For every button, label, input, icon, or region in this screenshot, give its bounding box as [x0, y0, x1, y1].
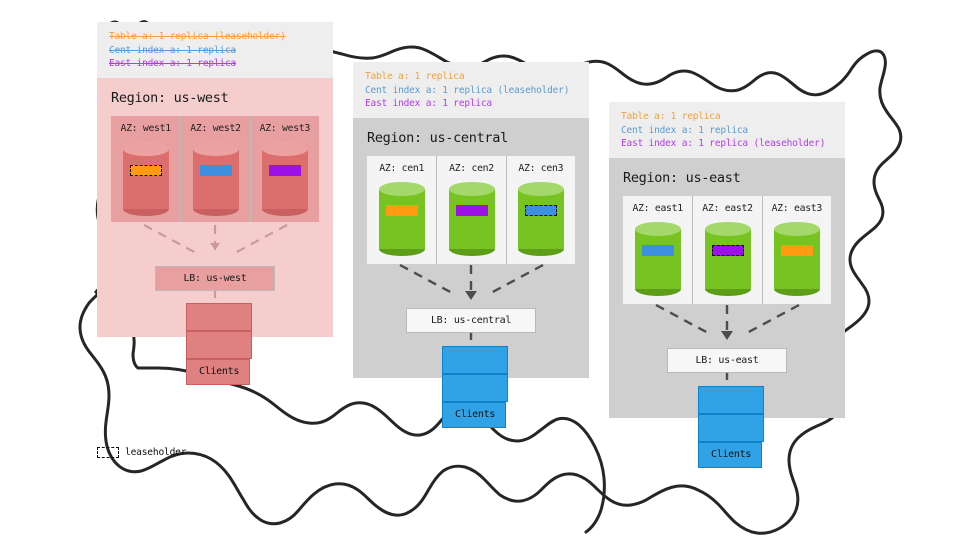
region-panel-us-central: Table a: 1 replica Cent index a: 1 repli…	[353, 62, 589, 372]
load-balancer-us-east[interactable]: LB: us-east	[667, 348, 787, 373]
region-replica-legend-us-central: Table a: 1 replica Cent index a: 1 repli…	[353, 62, 589, 118]
region-body-us-west: Region: us-west AZ: west1	[97, 78, 333, 337]
range-replica-east-index-a[interactable]	[712, 245, 744, 256]
cylinder-top	[123, 142, 169, 156]
az-strip-us-west: AZ: west1 AZ: west2	[111, 116, 319, 222]
cylinder-body	[379, 189, 425, 249]
az-label-east1: AZ: east1	[623, 203, 692, 214]
az-box-west3[interactable]: AZ: west3	[250, 116, 319, 222]
replica-row-cent-index: Cent index a: 1 replica	[621, 124, 835, 138]
clients-shadow-1	[442, 374, 508, 402]
range-replica-east-index-a[interactable]	[269, 165, 301, 176]
diagram-canvas: Table a: 1 replica (leaseholder) Cent in…	[0, 0, 960, 540]
az-label-west1: AZ: west1	[111, 123, 180, 134]
node-cylinder-cen2[interactable]	[449, 182, 495, 256]
az-strip-us-central: AZ: cen1 AZ: cen2	[367, 156, 575, 264]
cylinder-body	[123, 149, 169, 209]
replica-row-east-index: East index a: 1 replica	[365, 97, 579, 111]
region-replica-legend-us-east: Table a: 1 replica Cent index a: 1 repli…	[609, 102, 845, 158]
az-box-cen2[interactable]: AZ: cen2	[436, 156, 505, 264]
cylinder-top	[449, 182, 495, 196]
clients-box-us-central[interactable]: Clients	[442, 402, 506, 428]
replica-row-cent-index: Cent index a: 1 replica	[109, 44, 323, 58]
replica-row-cent-index: Cent index a: 1 replica (leaseholder)	[365, 84, 579, 98]
clients-box-us-west[interactable]: Clients	[186, 359, 250, 385]
region-panel-us-west: Table a: 1 replica (leaseholder) Cent in…	[97, 22, 333, 331]
az-label-cen2: AZ: cen2	[437, 163, 505, 174]
range-replica-cent-index-a[interactable]	[200, 165, 232, 176]
node-cylinder-west1[interactable]	[123, 142, 169, 216]
region-replica-legend-us-west: Table a: 1 replica (leaseholder) Cent in…	[97, 22, 333, 78]
node-cylinder-east1[interactable]	[635, 222, 681, 296]
cylinder-body	[449, 189, 495, 249]
range-replica-table-a[interactable]	[386, 205, 418, 216]
az-label-cen1: AZ: cen1	[367, 163, 436, 174]
node-cylinder-east3[interactable]	[774, 222, 820, 296]
az-label-cen3: AZ: cen3	[507, 163, 575, 174]
replica-row-east-index: East index a: 1 replica (leaseholder)	[621, 137, 835, 151]
replica-row-east-index: East index a: 1 replica	[109, 57, 323, 71]
az-label-east2: AZ: east2	[693, 203, 761, 214]
node-cylinder-west3[interactable]	[262, 142, 308, 216]
region-title-us-central: Region: us-central	[353, 118, 589, 156]
replica-row-table: Table a: 1 replica (leaseholder)	[109, 30, 323, 44]
load-balancer-us-central[interactable]: LB: us-central	[406, 308, 536, 333]
clients-shadow-1	[186, 331, 252, 359]
az-strip-us-east: AZ: east1 AZ: east2	[623, 196, 831, 304]
az-label-west3: AZ: west3	[251, 123, 319, 134]
cylinder-body	[635, 229, 681, 289]
az-label-east3: AZ: east3	[763, 203, 831, 214]
clients-shadow-2	[186, 303, 252, 331]
cylinder-top	[518, 182, 564, 196]
clients-box-us-east[interactable]: Clients	[698, 442, 762, 468]
clients-shadow-1	[698, 414, 764, 442]
node-cylinder-cen1[interactable]	[379, 182, 425, 256]
az-box-cen1[interactable]: AZ: cen1	[367, 156, 436, 264]
region-body-us-east: Region: us-east AZ: east1	[609, 158, 845, 418]
clients-shadow-2	[698, 386, 764, 414]
clients-shadow-2	[442, 346, 508, 374]
az-label-west2: AZ: west2	[181, 123, 249, 134]
clients-stack-us-central[interactable]: Clients	[442, 346, 508, 428]
load-balancer-us-west[interactable]: LB: us-west	[155, 266, 275, 291]
region-title-us-east: Region: us-east	[609, 158, 845, 196]
cylinder-top	[705, 222, 751, 236]
cylinder-top	[262, 142, 308, 156]
clients-stack-us-west[interactable]: Clients	[186, 303, 252, 385]
cylinder-top	[774, 222, 820, 236]
az-box-west2[interactable]: AZ: west2	[180, 116, 249, 222]
replica-row-table: Table a: 1 replica	[365, 70, 579, 84]
cylinder-top	[635, 222, 681, 236]
dashed-box-swatch-icon	[97, 447, 119, 458]
az-box-cen3[interactable]: AZ: cen3	[506, 156, 575, 264]
region-title-us-west: Region: us-west	[97, 78, 333, 116]
range-replica-table-a[interactable]	[130, 165, 162, 176]
cylinder-body	[705, 229, 751, 289]
node-cylinder-east2[interactable]	[705, 222, 751, 296]
az-box-west1[interactable]: AZ: west1	[111, 116, 180, 222]
node-cylinder-west2[interactable]	[193, 142, 239, 216]
leaseholder-legend-label: leaseholder	[125, 447, 186, 458]
node-cylinder-cen3[interactable]	[518, 182, 564, 256]
cylinder-body	[193, 149, 239, 209]
region-body-us-central: Region: us-central AZ: cen1	[353, 118, 589, 378]
leaseholder-legend: leaseholder	[97, 447, 186, 458]
az-box-east2[interactable]: AZ: east2	[692, 196, 761, 304]
cylinder-body	[518, 189, 564, 249]
range-replica-cent-index-a[interactable]	[525, 205, 557, 216]
cylinder-top	[379, 182, 425, 196]
range-replica-cent-index-a[interactable]	[642, 245, 674, 256]
az-box-east3[interactable]: AZ: east3	[762, 196, 831, 304]
range-replica-table-a[interactable]	[781, 245, 813, 256]
clients-stack-us-east[interactable]: Clients	[698, 386, 764, 468]
cylinder-body	[262, 149, 308, 209]
az-box-east1[interactable]: AZ: east1	[623, 196, 692, 304]
region-panel-us-east: Table a: 1 replica Cent index a: 1 repli…	[609, 102, 845, 412]
range-replica-east-index-a[interactable]	[456, 205, 488, 216]
replica-row-table: Table a: 1 replica	[621, 110, 835, 124]
cylinder-top	[193, 142, 239, 156]
cylinder-body	[774, 229, 820, 289]
